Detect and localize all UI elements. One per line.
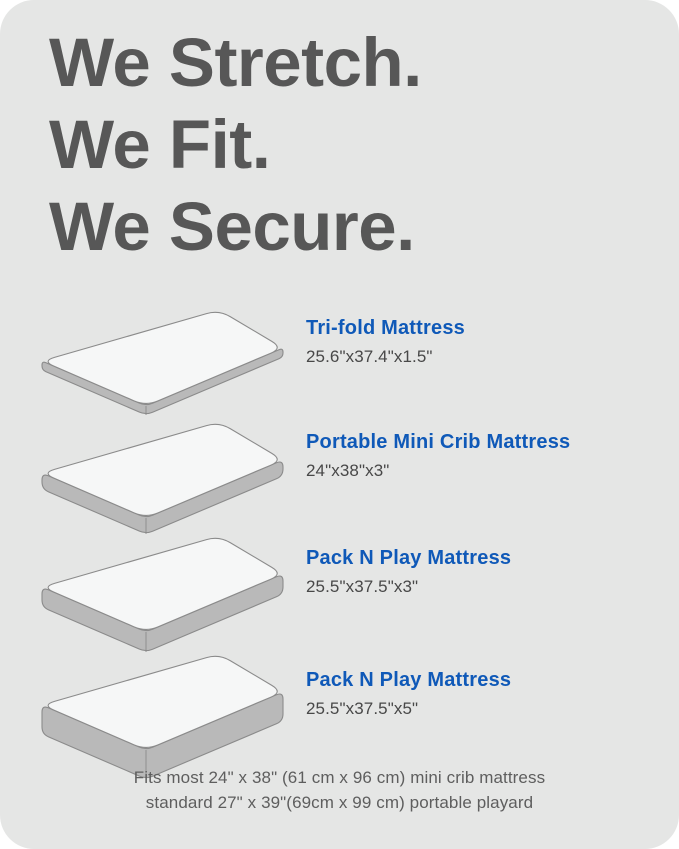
product-title: Tri-fold Mattress <box>306 316 666 340</box>
headline-line-2: We Fit. <box>49 104 639 186</box>
headline-line-1: We Stretch. <box>49 22 639 104</box>
footer-line-1: Fits most 24" x 38" (61 cm x 96 cm) mini… <box>0 765 679 790</box>
product-title: Portable Mini Crib Mattress <box>306 430 666 454</box>
mattress-illustration-1 <box>40 306 290 435</box>
product-dimensions: 25.5"x37.5"x3" <box>306 576 666 598</box>
mattress-size-guide-infographic: We Stretch. We Fit. We Secure. Tri-fold … <box>0 0 679 849</box>
product-label-1: Tri-fold Mattress 25.6"x37.4"x1.5" <box>306 316 666 368</box>
product-label-3: Pack N Play Mattress 25.5"x37.5"x3" <box>306 546 666 598</box>
headline-block: We Stretch. We Fit. We Secure. <box>49 22 639 268</box>
product-label-2: Portable Mini Crib Mattress 24"x38"x3" <box>306 430 666 482</box>
product-title: Pack N Play Mattress <box>306 668 666 692</box>
product-title: Pack N Play Mattress <box>306 546 666 570</box>
product-dimensions: 25.5"x37.5"x5" <box>306 698 666 720</box>
footer-note: Fits most 24" x 38" (61 cm x 96 cm) mini… <box>0 765 679 815</box>
footer-line-2: standard 27" x 39"(69cm x 99 cm) portabl… <box>0 790 679 815</box>
mattress-slab-icon <box>40 306 290 435</box>
headline-line-3: We Secure. <box>49 186 639 268</box>
mattress-top-face <box>48 312 277 403</box>
product-dimensions: 25.6"x37.4"x1.5" <box>306 346 666 368</box>
product-label-4: Pack N Play Mattress 25.5"x37.5"x5" <box>306 668 666 720</box>
product-dimensions: 24"x38"x3" <box>306 460 666 482</box>
